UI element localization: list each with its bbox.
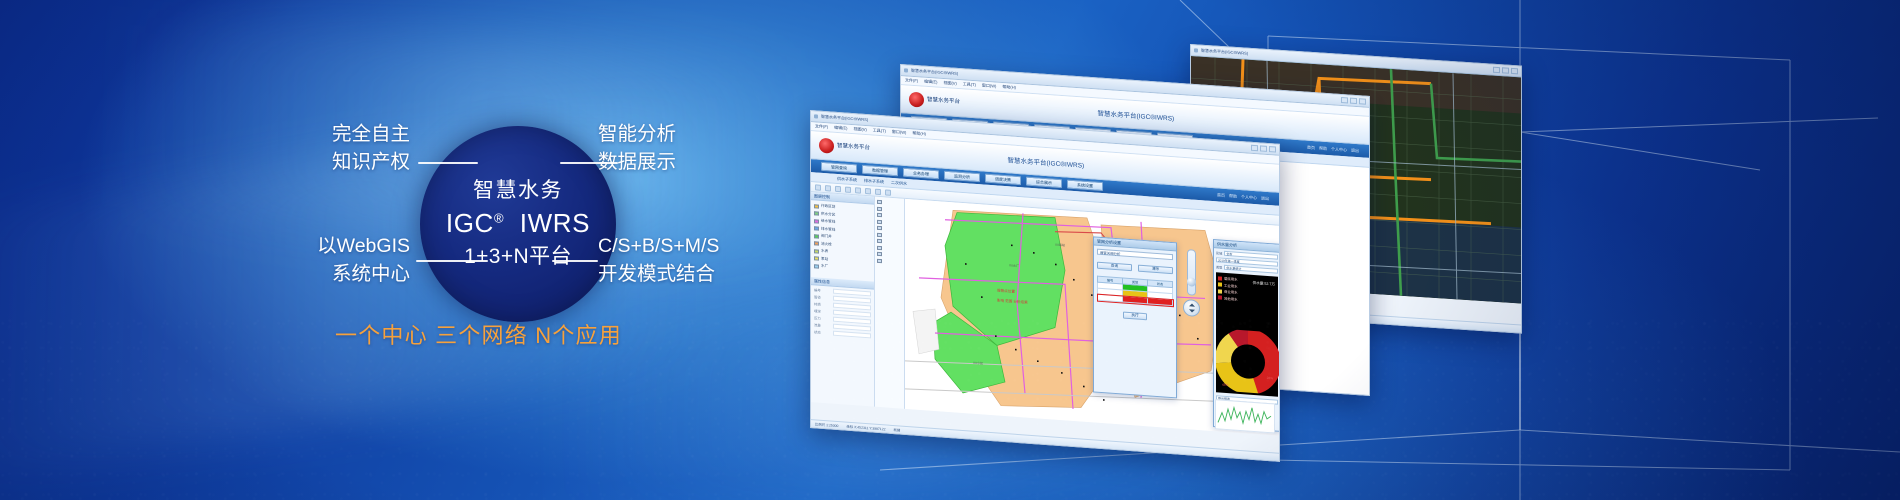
layer-label: 消火栓	[821, 241, 832, 247]
props-list: 编号 管径 材质 埋深 压力 流量 状态	[811, 285, 874, 341]
nav-button[interactable]: 系统设置	[1067, 180, 1103, 192]
nav-link-profile[interactable]: 个人中心	[1241, 194, 1257, 201]
tool-icon[interactable]	[877, 219, 882, 223]
nav-link-help[interactable]: 帮助	[1319, 145, 1327, 152]
menu-item-help[interactable]: 帮助(H)	[1002, 84, 1016, 91]
nav-button[interactable]: 管网查询	[821, 162, 857, 174]
prop-key: 编号	[814, 287, 830, 293]
connector-line-bottom-left	[416, 260, 488, 262]
analysis-result-table[interactable]: 编号 类型 状态	[1097, 276, 1173, 306]
status-ready: 就绪	[893, 427, 900, 432]
layer-swatch	[814, 226, 819, 230]
tool-icon[interactable]	[877, 226, 882, 230]
legend-label: 工业用水	[1224, 282, 1238, 288]
supply-readout: 供水量:52.7万	[1253, 281, 1275, 288]
concept-label-bottom-right-line2: 开发模式结合	[598, 260, 818, 288]
app-window-front-gis[interactable]: 智慧水务平台(IGC®IWRS) 文件(F) 编辑(E) 视图(V) 工具(T)…	[810, 110, 1280, 462]
zoom-out-tool-icon[interactable]	[845, 186, 851, 192]
donut-percent-left: 45%	[1222, 383, 1228, 387]
nav-link-logout[interactable]: 退出	[1261, 195, 1269, 202]
registered-mark-icon: ®	[494, 210, 504, 225]
nav-right-group[interactable]: 首页 帮助 个人中心 退出	[1217, 192, 1269, 202]
layer-label: 阀门井	[821, 234, 832, 240]
concept-label-top-left: 完全自主 知识产权	[270, 120, 410, 177]
layers-tool-icon[interactable]	[885, 189, 891, 195]
prop-value	[833, 310, 871, 317]
tagline: 一个中心 三个网络 N个应用	[335, 318, 622, 350]
zoom-in-tool-icon[interactable]	[835, 185, 841, 191]
layer-label: 供水分区	[821, 211, 835, 217]
tool-strip-item	[877, 219, 902, 225]
menu-item-tools[interactable]: 工具(T)	[873, 128, 886, 135]
tool-strip-item	[877, 245, 902, 251]
tool-icon[interactable]	[877, 245, 882, 249]
banner-root: 智慧水务 IGC® IWRS 1+3+N平台 完全自主 知识产权 智能分析 数据…	[0, 0, 1900, 500]
menu-item-view[interactable]: 视图(V)	[853, 126, 866, 133]
tool-strip-item	[877, 200, 902, 206]
gis-map-canvas[interactable]: XX水厂XX泵站 XX小区XX路 爆管点位置 影响 范围 分析结果 管网分析设置…	[905, 199, 1279, 436]
window-title: 智慧水务平台(IGC®IWRS)	[911, 68, 958, 77]
tool-strip[interactable]	[875, 197, 905, 409]
app-title-banner: 智慧水务平台(IGC®IWRS)	[1098, 107, 1175, 122]
legend-item: 居民用水	[1218, 275, 1238, 281]
prop-value	[833, 296, 871, 303]
subnav-item[interactable]: 排水子系统	[864, 177, 884, 184]
brand-name: 智慧水务平台	[927, 97, 960, 106]
maximize-icon	[1502, 67, 1509, 73]
layer-tree[interactable]: 行政区划 供水分区 给水管线 排水管线 阀门井 消火栓 水表 泵站 水厂	[811, 200, 874, 276]
connector-line-top-left	[418, 162, 478, 164]
concept-label-top-right-line2: 数据展示	[598, 148, 798, 176]
tool-icon[interactable]	[877, 239, 882, 243]
window-controls[interactable]	[1341, 97, 1366, 105]
menu-item-window[interactable]: 窗口(W)	[982, 83, 996, 90]
concept-label-top-right: 智能分析 数据展示	[598, 120, 798, 177]
gis-workspace: 图层控制 行政区划 供水分区 给水管线 排水管线 阀门井 消火栓 水表 泵站 水…	[811, 192, 1279, 436]
hub-line-3: 1+3+N平台	[464, 244, 572, 270]
tool-strip-item	[877, 213, 902, 219]
svg-text:XX泵站: XX泵站	[1055, 242, 1065, 248]
layer-label: 排水管线	[821, 226, 835, 232]
layer-swatch	[814, 241, 819, 245]
concept-label-top-left-line2: 知识产权	[270, 148, 410, 176]
nav-link-logout[interactable]: 退出	[1351, 147, 1359, 154]
menu-item-window[interactable]: 窗口(W)	[892, 129, 906, 136]
tool-strip-item	[877, 239, 902, 245]
concept-label-bottom-right-line1: C/S+B/S+M/S	[598, 232, 818, 260]
layer-item: 水厂	[814, 263, 871, 272]
nav-button[interactable]: 调度决策	[985, 174, 1021, 186]
status-coords: 坐标 X:452311 Y:3987122	[846, 424, 885, 432]
field-label-area: 区域	[1216, 250, 1222, 255]
nav-link-help[interactable]: 帮助	[1229, 193, 1237, 200]
donut-percent-right: 28%	[1267, 376, 1273, 380]
supply-analysis-body: 区域 全市 2019年第一季度 类型 供水量统计	[1214, 248, 1279, 407]
hub-line-1: 智慧水务	[473, 178, 563, 204]
sparkline-panel	[1215, 399, 1275, 433]
prop-key: 状态	[814, 329, 830, 335]
close-icon	[1511, 68, 1518, 74]
legend-item: 其他用水	[1218, 295, 1238, 301]
brand-name: 智慧水务平台	[837, 143, 870, 152]
hub-brand-tail: IWRS	[520, 208, 590, 238]
window-title: 智慧水务平台(IGC®IWRS)	[821, 114, 868, 123]
layer-label: 泵站	[821, 256, 828, 262]
menu-item-edit[interactable]: 编辑(E)	[834, 125, 847, 132]
map-zoom-controls[interactable]	[1187, 249, 1200, 317]
window-icon	[814, 114, 818, 118]
print-tool-icon[interactable]	[875, 188, 881, 194]
hub-line-2: IGC® IWRS	[446, 207, 590, 241]
nav-button[interactable]: 监测分析	[944, 171, 980, 183]
minimize-icon	[1341, 97, 1348, 103]
hub-brand-main: IGC	[446, 208, 494, 238]
layer-swatch	[814, 256, 819, 260]
legend-item: 工业用水	[1218, 282, 1238, 288]
connector-line-bottom-right	[552, 260, 598, 262]
minimize-icon	[1251, 145, 1258, 152]
nav-link-home[interactable]: 首页	[1217, 192, 1225, 199]
status-scale: 比例尺 1:25000	[815, 421, 838, 428]
pan-tool-icon[interactable]	[825, 185, 831, 191]
tool-icon[interactable]	[877, 232, 882, 236]
nav-button[interactable]: 数据管理	[862, 165, 898, 177]
menu-item-view[interactable]: 视图(V)	[943, 80, 956, 87]
clear-button[interactable]: 清除	[1138, 265, 1173, 275]
close-icon	[1359, 98, 1366, 104]
screenshot-stack: 智慧水务平台(IGC®IWRS)	[790, 40, 1900, 460]
concept-label-bottom-left-line2: 系统中心	[258, 260, 410, 288]
execute-button[interactable]: 执行	[1123, 312, 1147, 321]
nav-link-home[interactable]: 首页	[1307, 144, 1315, 151]
menu-item-tools[interactable]: 工具(T)	[963, 81, 976, 88]
concept-label-bottom-left: 以WebGIS 系统中心	[258, 232, 410, 289]
legend-label: 商业用水	[1224, 289, 1238, 295]
concept-label-top-right-line1: 智能分析	[598, 120, 798, 148]
prop-value	[833, 303, 871, 310]
layer-swatch	[814, 264, 819, 268]
maximize-icon	[1260, 145, 1267, 152]
prop-value	[833, 324, 871, 331]
minimize-icon	[1493, 67, 1500, 73]
maximize-icon	[1350, 98, 1357, 104]
tool-icon[interactable]	[877, 206, 882, 210]
window-controls[interactable]	[1493, 67, 1518, 75]
tool-icon[interactable]	[877, 200, 882, 204]
zoom-slider[interactable]	[1187, 249, 1196, 296]
layer-label: 给水管线	[821, 219, 835, 225]
donut-legend: 居民用水 工业用水 商业用水 其他用水	[1218, 275, 1238, 301]
layer-swatch	[814, 249, 819, 253]
svg-text:XX水厂: XX水厂	[1009, 262, 1019, 268]
nav-button[interactable]: 业务办理	[903, 168, 939, 180]
window-controls[interactable]	[1251, 145, 1276, 153]
concept-hub: 智慧水务 IGC® IWRS 1+3+N平台	[420, 126, 616, 322]
prop-key: 压力	[814, 315, 830, 321]
layer-swatch	[814, 234, 819, 238]
layer-label: 水表	[821, 249, 828, 255]
app-title-banner: 智慧水务平台(IGC®IWRS)	[1008, 154, 1085, 170]
subnav-item[interactable]: 二次供水	[891, 179, 907, 186]
pointer-tool-icon[interactable]	[815, 184, 821, 190]
subnav-item[interactable]: 供水子系统	[837, 175, 857, 182]
prop-value	[833, 331, 871, 338]
prop-key: 管径	[814, 294, 830, 300]
prop-key: 流量	[814, 322, 830, 328]
tool-strip-item	[877, 206, 902, 212]
svg-text:XX小区: XX小区	[973, 360, 983, 366]
company-logo-icon	[909, 92, 924, 108]
prop-value	[833, 289, 871, 296]
layer-label: 水厂	[821, 264, 828, 270]
pan-dpad[interactable]	[1183, 299, 1200, 317]
connector-line-top-right	[560, 162, 618, 164]
company-logo-icon	[819, 138, 834, 154]
tool-strip-item	[877, 258, 902, 264]
nav-link-profile[interactable]: 个人中心	[1331, 146, 1347, 153]
close-icon	[1269, 146, 1276, 153]
query-button[interactable]: 查询	[1097, 262, 1132, 272]
layer-swatch	[814, 211, 819, 215]
field-label-type: 类型	[1216, 264, 1222, 269]
window-icon	[904, 68, 908, 72]
menu-item-file[interactable]: 文件(F)	[905, 77, 918, 84]
zoom-slider-knob[interactable]	[1187, 277, 1196, 287]
prop-key: 材质	[814, 301, 830, 307]
sparkline-svg	[1216, 400, 1274, 432]
concept-label-bottom-left-line1: 以WebGIS	[258, 232, 410, 260]
menu-item-file[interactable]: 文件(F)	[815, 123, 828, 130]
prop-key: 埋深	[814, 308, 830, 314]
analysis-dialog[interactable]: 管网分析设置 爆管关阀分析 查询 清除 编号 类型	[1093, 236, 1177, 398]
tool-strip-item	[877, 252, 902, 258]
layer-swatch	[814, 219, 819, 223]
analysis-dialog-body: 爆管关阀分析 查询 清除 编号 类型 状态	[1094, 245, 1176, 325]
layer-label: 行政区划	[821, 204, 835, 210]
nav-right-group[interactable]: 首页 帮助 个人中心 退出	[1307, 144, 1359, 154]
menu-item-help[interactable]: 帮助(H)	[912, 130, 926, 137]
window-icon	[1194, 48, 1198, 52]
legend-label: 其他用水	[1224, 295, 1238, 301]
brand-name-text: 智慧水务平台	[837, 143, 870, 151]
legend-label: 居民用水	[1224, 276, 1238, 282]
concept-label-top-left-line1: 完全自主	[270, 120, 410, 148]
concept-label-bottom-right: C/S+B/S+M/S 开发模式结合	[598, 232, 818, 289]
menu-item-edit[interactable]: 编辑(E)	[924, 79, 937, 86]
donut-chart-panel[interactable]: 居民用水 工业用水 商业用水 其他用水 供水量:52.7万	[1216, 272, 1278, 396]
legend-item: 商业用水	[1218, 288, 1238, 294]
window-title: 智慧水务平台(IGC®IWRS)	[1201, 48, 1248, 57]
layer-panel[interactable]: 图层控制 行政区划 供水分区 给水管线 排水管线 阀门井 消火栓 水表 泵站 水…	[811, 192, 875, 407]
tool-strip-item	[877, 226, 902, 232]
tool-strip-item	[877, 232, 902, 238]
layer-swatch	[814, 204, 819, 208]
measure-tool-icon[interactable]	[855, 187, 861, 193]
identify-tool-icon[interactable]	[865, 187, 871, 193]
nav-button[interactable]: 综合展示	[1026, 177, 1062, 189]
tool-icon[interactable]	[877, 252, 882, 256]
prop-value	[833, 317, 871, 324]
tool-icon[interactable]	[877, 213, 882, 217]
tool-icon[interactable]	[877, 258, 882, 262]
analysis-type-select[interactable]: 爆管关阀分析	[1097, 249, 1173, 260]
